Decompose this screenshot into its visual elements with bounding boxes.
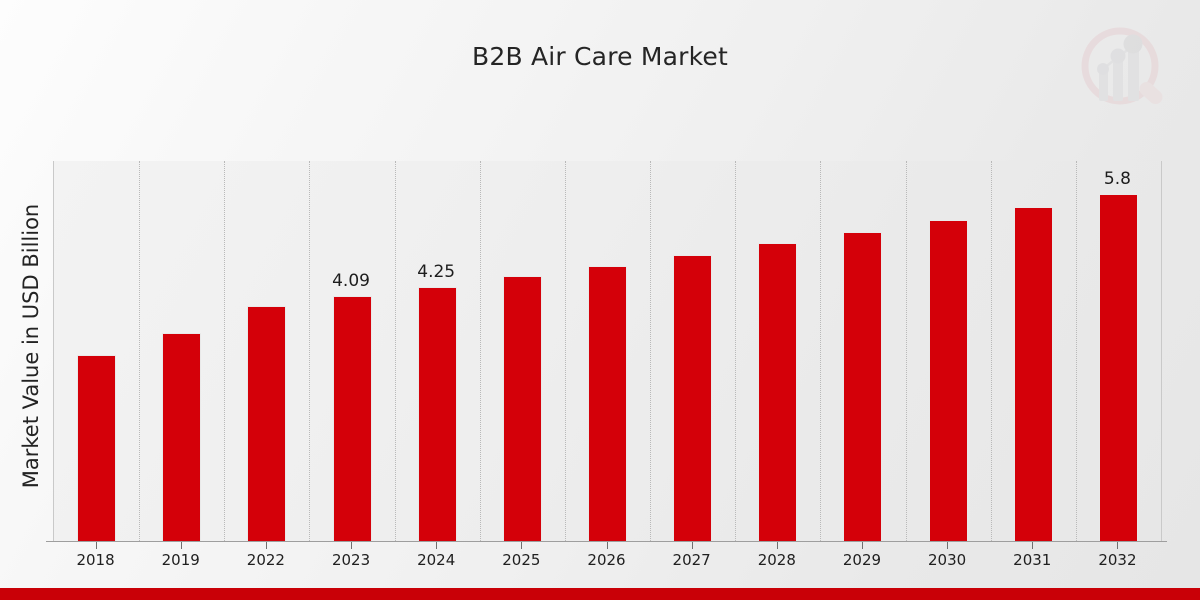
x-tick-label-2018: 2018 bbox=[56, 551, 136, 569]
x-tick bbox=[436, 542, 437, 549]
gridline bbox=[991, 161, 992, 541]
gridline bbox=[735, 161, 736, 541]
x-tick bbox=[692, 542, 693, 549]
x-tick-label-2027: 2027 bbox=[652, 551, 732, 569]
x-tick bbox=[862, 542, 863, 549]
x-tick bbox=[777, 542, 778, 549]
bar-2025[interactable] bbox=[503, 276, 542, 541]
gridline bbox=[1076, 161, 1077, 541]
x-tick-label-2019: 2019 bbox=[141, 551, 221, 569]
x-tick-label-2031: 2031 bbox=[992, 551, 1072, 569]
x-tick-label-2032: 2032 bbox=[1077, 551, 1157, 569]
bar-2024[interactable] bbox=[418, 287, 457, 541]
bar-2027[interactable] bbox=[673, 255, 712, 541]
gridline bbox=[565, 161, 566, 541]
x-tick bbox=[1117, 542, 1118, 549]
x-tick-label-2025: 2025 bbox=[481, 551, 561, 569]
x-tick-label-2029: 2029 bbox=[822, 551, 902, 569]
x-tick bbox=[947, 542, 948, 549]
chart-figure: B2B Air Care Market Market Value in USD … bbox=[0, 0, 1200, 600]
gridline bbox=[139, 161, 140, 541]
x-tick bbox=[96, 542, 97, 549]
gridline bbox=[395, 161, 396, 541]
bar-2019[interactable] bbox=[162, 333, 201, 541]
bar-2026[interactable] bbox=[588, 266, 627, 541]
bar-2023[interactable] bbox=[333, 296, 372, 541]
x-tick-label-2022: 2022 bbox=[226, 551, 306, 569]
x-tick bbox=[181, 542, 182, 549]
x-tick-label-2026: 2026 bbox=[567, 551, 647, 569]
bar-2031[interactable] bbox=[1014, 207, 1053, 541]
bar-2018[interactable] bbox=[77, 355, 116, 541]
x-tick bbox=[521, 542, 522, 549]
bar-2028[interactable] bbox=[758, 243, 797, 541]
x-tick-label-2024: 2024 bbox=[396, 551, 476, 569]
x-tick bbox=[1032, 542, 1033, 549]
bar-value-label-2023: 4.09 bbox=[306, 271, 396, 291]
gridline bbox=[650, 161, 651, 541]
x-tick bbox=[351, 542, 352, 549]
x-tick-label-2030: 2030 bbox=[907, 551, 987, 569]
bar-2022[interactable] bbox=[247, 306, 286, 541]
gridline bbox=[480, 161, 481, 541]
gridline bbox=[820, 161, 821, 541]
x-tick-label-2028: 2028 bbox=[737, 551, 817, 569]
bottom-accent-band bbox=[0, 588, 1200, 600]
bar-value-label-2032: 5.8 bbox=[1072, 169, 1162, 189]
x-tick-label-2023: 2023 bbox=[311, 551, 391, 569]
chart-title: B2B Air Care Market bbox=[0, 42, 1200, 71]
y-axis-title: Market Value in USD Billion bbox=[19, 86, 43, 600]
gridline bbox=[224, 161, 225, 541]
gridline bbox=[906, 161, 907, 541]
plot-area bbox=[53, 161, 1162, 541]
bar-2029[interactable] bbox=[843, 232, 882, 541]
bar-2032[interactable] bbox=[1099, 194, 1138, 541]
x-tick bbox=[266, 542, 267, 549]
bar-2030[interactable] bbox=[929, 220, 968, 541]
x-tick bbox=[607, 542, 608, 549]
bar-value-label-2024: 4.25 bbox=[391, 262, 481, 282]
gridline bbox=[309, 161, 310, 541]
